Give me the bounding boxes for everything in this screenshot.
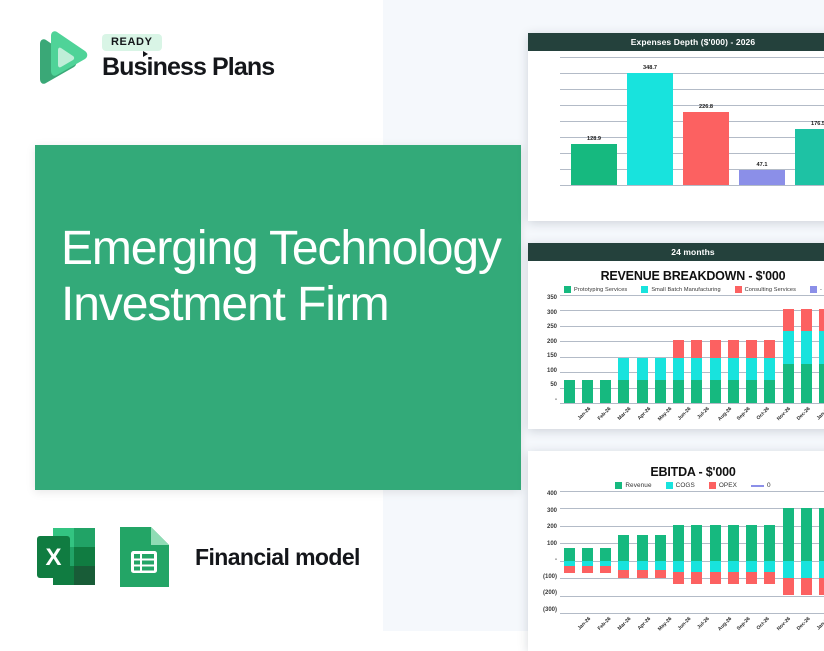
- x-tick: Sep-26: [723, 404, 734, 429]
- legend-swatch: [709, 482, 716, 489]
- expenses-plot-area: 128.9348.7226.847.1176.5: [534, 57, 824, 185]
- legend-item: COGS: [666, 482, 695, 489]
- bar-value-label: 176.5: [795, 121, 824, 127]
- bar-segment: [746, 358, 757, 380]
- bar-segment: [728, 380, 739, 403]
- y-tick-label: 350: [547, 295, 557, 301]
- legend-label: 0: [767, 482, 771, 489]
- stacked-bar-column: [600, 295, 611, 403]
- x-tick: Mar-26: [604, 404, 615, 429]
- legend-label: Prototyping Services: [574, 287, 627, 293]
- bar-segment: [764, 358, 775, 380]
- x-tick: Nov-26: [763, 614, 774, 640]
- play-triangle-logo-icon: [32, 28, 90, 86]
- bar-segment: [691, 340, 702, 359]
- x-tick: Dec-26: [783, 614, 794, 640]
- stacked-bar-column: [655, 295, 666, 403]
- bar-segment: [710, 380, 721, 403]
- bar-segment: [746, 340, 757, 359]
- legend-swatch: [615, 482, 622, 489]
- y-tick-label: 400: [547, 491, 557, 497]
- x-tick: Oct-26: [743, 614, 754, 640]
- legend-label: Small Batch Manufacturing: [651, 287, 720, 293]
- bar: [683, 112, 729, 185]
- x-tick: Oct-26: [743, 404, 754, 429]
- legend-item: Prototyping Services: [564, 286, 627, 293]
- ebitda-legend: RevenueCOGSOPEX0: [534, 482, 824, 489]
- y-tick-label: 300: [547, 310, 557, 316]
- bar-segment: [801, 309, 812, 332]
- y-tick-label: 250: [547, 324, 557, 330]
- legend-swatch: [666, 482, 673, 489]
- footer-label: Financial model: [195, 544, 360, 571]
- bar-segment: [746, 380, 757, 403]
- bar-value-label: 128.9: [571, 136, 617, 142]
- bar-segment: [637, 358, 648, 380]
- x-tick: Jan-26: [564, 404, 575, 429]
- legend-label: Revenue: [625, 482, 651, 489]
- bar-segment: [673, 340, 684, 359]
- x-tick: Apr-26: [624, 404, 635, 429]
- x-tick: Jul-26: [684, 404, 695, 429]
- bar-segment: [764, 380, 775, 403]
- bar: [739, 170, 785, 185]
- page-title: Emerging Technology Investment Firm: [61, 221, 501, 333]
- x-tick: Jan-27: [803, 614, 814, 640]
- brand-logo-block[interactable]: READY Business Plans: [32, 28, 274, 86]
- bar-segment: [819, 364, 824, 403]
- legend-swatch: [810, 286, 817, 293]
- stacked-bar-column: [618, 295, 629, 403]
- y-tick-label: 100: [547, 368, 557, 374]
- stacked-bar-column: [764, 295, 775, 403]
- bar-segment: [618, 380, 629, 403]
- legend-label: OPEX: [719, 482, 737, 489]
- bar-column: 47.1: [739, 57, 785, 185]
- bar-segment: [819, 331, 824, 363]
- legend-swatch: [735, 286, 742, 293]
- legend-item: Revenue: [615, 482, 651, 489]
- legend-item: Small Batch Manufacturing: [641, 286, 720, 293]
- legend-swatch: [564, 286, 571, 293]
- bar-value-label: 47.1: [739, 162, 785, 168]
- legend-swatch: [641, 286, 648, 293]
- bar-segment: [783, 309, 794, 332]
- x-tick: Aug-26: [704, 404, 715, 429]
- y-tick-label: -: [555, 397, 557, 403]
- revenue-chart-title: REVENUE BREAKDOWN - $'000: [534, 269, 824, 283]
- x-tick: Apr-26: [624, 614, 635, 640]
- bar-value-label: 226.8: [683, 104, 729, 110]
- stacked-bar-column: [710, 295, 721, 403]
- bar-segment: [801, 331, 812, 363]
- brand-name: Business Plans: [102, 54, 274, 80]
- x-tick: May-26: [644, 614, 655, 640]
- bar-segment: [691, 358, 702, 380]
- x-tick: Feb-26: [584, 614, 595, 640]
- bar-segment: [673, 358, 684, 380]
- stacked-bar-column: [728, 295, 739, 403]
- bar: [571, 144, 617, 185]
- bar-segment: [673, 380, 684, 403]
- chart-card-revenue-breakdown[interactable]: 24 months REVENUE BREAKDOWN - $'000 Prot…: [528, 243, 824, 429]
- bar-segment: [600, 380, 611, 403]
- stacked-bar-column: [637, 295, 648, 403]
- bar-segment: [637, 380, 648, 403]
- bar-segment: [783, 364, 794, 403]
- bar-segment: [618, 358, 629, 380]
- ebitda-chart-body: EBITDA - $'000 RevenueCOGSOPEX0 40030020…: [528, 451, 824, 642]
- bar-segment: [764, 340, 775, 359]
- legend-swatch: [751, 485, 764, 487]
- ebitda-x-axis: Jan-26Feb-26Mar-26Apr-26May-26Jun-26Jul-…: [560, 614, 824, 640]
- bar-segment: [655, 380, 666, 403]
- bar-segment: [691, 380, 702, 403]
- x-tick: Feb-26: [584, 404, 595, 429]
- chart-card-ebitda[interactable]: EBITDA - $'000 RevenueCOGSOPEX0 40030020…: [528, 451, 824, 651]
- bar-column: 226.8: [683, 57, 729, 185]
- ready-badge: READY: [102, 34, 162, 52]
- legend-item: OPEX: [709, 482, 737, 489]
- x-tick: Aug-26: [704, 614, 715, 640]
- bar-segment: [582, 380, 593, 403]
- x-tick: Dec-26: [783, 404, 794, 429]
- hero-panel: Emerging Technology Investment Firm: [35, 145, 521, 490]
- y-tick-label: 300: [547, 508, 557, 514]
- legend-label: Consulting Services: [745, 287, 796, 293]
- poster-canvas: READY Business Plans Emerging Technology…: [0, 0, 824, 631]
- x-tick: Mar-26: [604, 614, 615, 640]
- svg-text:X: X: [45, 544, 61, 571]
- legend-item: -: [810, 286, 822, 293]
- legend-item: Consulting Services: [735, 286, 796, 293]
- x-tick: Sep-26: [723, 614, 734, 640]
- stacked-bar-column: [746, 295, 757, 403]
- legend-label: -: [820, 287, 822, 293]
- bar-value-label: 348.7: [627, 65, 673, 71]
- bar-segment: [728, 340, 739, 359]
- bar-segment: [728, 358, 739, 380]
- revenue-bars: [560, 295, 824, 403]
- x-tick: Jan-26: [564, 614, 575, 640]
- expenses-chart-title: Expenses Depth ($'000) - 2026: [528, 33, 824, 51]
- y-tick-label: 50: [550, 382, 557, 388]
- bar-segment: [783, 331, 794, 363]
- gridline: [560, 185, 824, 186]
- bar-column: 176.5: [795, 57, 824, 185]
- revenue-chart-body: REVENUE BREAKDOWN - $'000 Prototyping Se…: [528, 261, 824, 429]
- bar-segment: [710, 358, 721, 380]
- y-tick-label: 150: [547, 353, 557, 359]
- bar-column: 128.9: [571, 57, 617, 185]
- bar-segment: [801, 364, 812, 403]
- footer-row: X Financial model: [33, 524, 360, 590]
- revenue-period-banner: 24 months: [528, 243, 824, 261]
- stacked-bar-column: [783, 295, 794, 403]
- brand-name-text: Business Plans: [102, 53, 274, 81]
- stacked-bar-column: [801, 295, 812, 403]
- x-tick: May-26: [644, 404, 655, 429]
- expenses-chart-body: 128.9348.7226.847.1176.5: [528, 51, 824, 187]
- revenue-x-axis: Jan-26Feb-26Mar-26Apr-26May-26Jun-26Jul-…: [560, 404, 824, 429]
- brand-wordmark: READY Business Plans: [102, 34, 274, 81]
- x-tick: Nov-26: [763, 404, 774, 429]
- legend-item: 0: [751, 482, 771, 489]
- brand-play-tick-icon: [143, 51, 148, 57]
- revenue-y-axis: 35030025020015010050-: [534, 295, 560, 403]
- y-tick-label: 100: [547, 541, 557, 547]
- ebitda-plot-area: 400300200100-(100)(200)(300): [534, 491, 824, 613]
- bar-segment: [710, 340, 721, 359]
- revenue-plot-area: 35030025020015010050-: [534, 295, 824, 403]
- stacked-bar-column: [691, 295, 702, 403]
- revenue-legend: Prototyping ServicesSmall Batch Manufact…: [534, 286, 824, 293]
- x-tick: Jun-26: [664, 614, 675, 640]
- google-sheets-icon[interactable]: [115, 524, 173, 590]
- x-tick: Jun-26: [664, 404, 675, 429]
- chart-card-expenses-depth[interactable]: Expenses Depth ($'000) - 2026 128.9348.7…: [528, 33, 824, 221]
- stacked-bar-column: [564, 295, 575, 403]
- y-tick-label: -: [555, 557, 557, 563]
- bar: [795, 129, 824, 185]
- stacked-bar-column: [673, 295, 684, 403]
- y-tick-label: (100): [543, 574, 557, 580]
- y-tick-label: 200: [547, 524, 557, 530]
- excel-icon[interactable]: X: [33, 524, 99, 590]
- stacked-bar-column: [819, 295, 824, 403]
- expenses-bars: 128.9348.7226.847.1176.5: [560, 57, 824, 185]
- ebitda-y-axis: 400300200100-(100)(200)(300): [534, 491, 560, 613]
- x-tick: Jan-27: [803, 404, 814, 429]
- bar-column: 348.7: [627, 57, 673, 185]
- stacked-bar-column: [582, 295, 593, 403]
- y-tick-label: 200: [547, 339, 557, 345]
- x-tick: Jul-26: [684, 614, 695, 640]
- bar-segment: [655, 358, 666, 380]
- legend-label: COGS: [676, 482, 695, 489]
- ebitda-chart-title: EBITDA - $'000: [534, 465, 824, 479]
- bar-segment: [819, 309, 824, 332]
- y-tick-label: (300): [543, 607, 557, 613]
- bar-segment: [564, 380, 575, 403]
- bar: [627, 73, 673, 185]
- y-tick-label: (200): [543, 590, 557, 596]
